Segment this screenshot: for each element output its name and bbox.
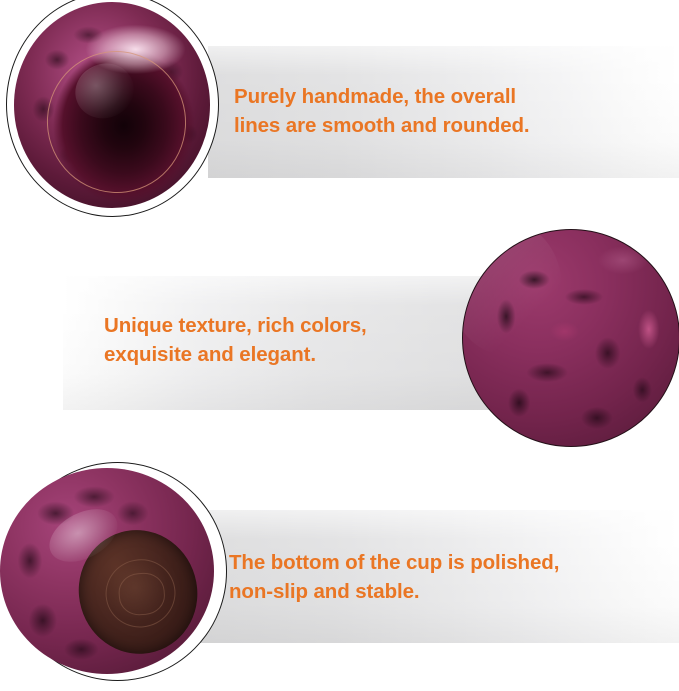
feature-caption-2: Unique texture, rich colors, exquisite a… [104, 311, 504, 369]
feature-caption-3: The bottom of the cup is polished, non-s… [229, 548, 677, 606]
feature-caption-1: Purely handmade, the overall lines are s… [234, 82, 664, 140]
cup-top-view-photo [14, 2, 210, 208]
cup-bottom-photo [0, 468, 214, 674]
infographic-canvas: Purely handmade, the overall lines are s… [0, 0, 679, 691]
maker-seal-stamp [97, 550, 183, 635]
